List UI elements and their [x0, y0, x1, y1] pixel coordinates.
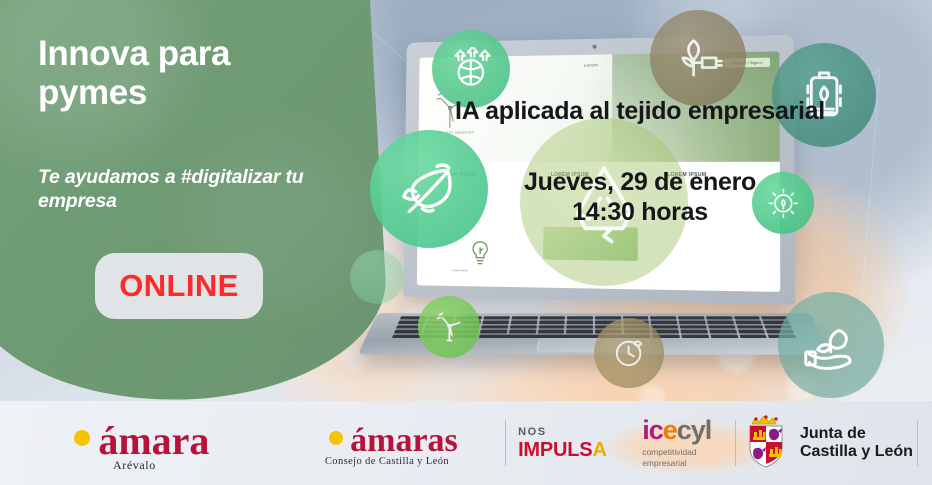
icecyl-wordmark: icecyl: [642, 417, 711, 444]
icecyl-sublabel: competitividad empresarial: [642, 447, 711, 468]
junta-castilla-leon-logo[interactable]: Junta de Castilla y León: [736, 401, 917, 485]
camara-wordmark: ámara: [98, 421, 209, 461]
event-info: IA aplicada al tejido empresarial Jueves…: [430, 96, 850, 228]
plant-plug-icon: [650, 10, 746, 106]
impulsa-line2: IMPULSA: [518, 440, 607, 460]
camara-arevalo-logo[interactable]: ámara Arévalo: [0, 401, 269, 485]
mock-caption: Lorem ipsum: [452, 268, 469, 272]
event-time: 14:30 horas: [430, 197, 850, 228]
icecyl-logo[interactable]: icecyl competitividad empresarial: [619, 401, 735, 485]
icecyl-sub-line1: competitividad: [642, 447, 711, 458]
impulsa-main-text: IMPULS: [518, 439, 592, 461]
camaras-sublabel: Consejo de Castilla y León: [325, 457, 449, 468]
online-badge-label: ONLINE: [119, 268, 239, 304]
camara-c-mark-icon: [59, 415, 105, 461]
icecyl-part2: e: [663, 415, 677, 445]
wind-turbine-icon: [418, 296, 480, 358]
event-date: Jueves, 29 de enero: [430, 167, 850, 198]
page-title: Innova para pymes: [38, 34, 338, 112]
icecyl-sub-line2: empresarial: [642, 458, 711, 469]
junta-line1: Junta de: [800, 425, 913, 443]
clock-leaf-icon: [594, 318, 664, 388]
camaras-wordmark: ámaras: [350, 424, 458, 458]
left-copy: Innova para pymes Te ayudamos a #digital…: [38, 34, 338, 214]
online-badge[interactable]: ONLINE: [95, 253, 263, 319]
camara-sublabel: Arévalo: [113, 459, 156, 471]
mock-nav-logo: Lorem: [584, 62, 599, 67]
impulsa-line1: NOS: [518, 427, 607, 438]
icecyl-part3: cyl: [677, 415, 712, 445]
mock-bulb-icon: [465, 236, 494, 270]
footer-logo-bar: ámara Arévalo ámaras Consejo de Castilla…: [0, 401, 932, 485]
junta-wordmark: Junta de Castilla y León: [800, 425, 913, 461]
page-subtitle: Te ayudamos a #digitalizar tu empresa: [38, 166, 338, 214]
camaras-castilla-leon-logo[interactable]: ámaras Consejo de Castilla y León: [269, 401, 505, 485]
promo-banner: Lorem Register / Sign-in ECOLOGY INDUSTR…: [0, 0, 932, 485]
footer-divider-3: [917, 401, 932, 485]
junta-line2: Castilla y León: [800, 443, 913, 461]
hand-sprout-icon: [778, 292, 884, 398]
icecyl-part1: ic: [642, 415, 663, 445]
small-eco-bubble: [350, 250, 404, 304]
castilla-leon-crest-icon: [740, 413, 792, 474]
event-title: IA aplicada al tejido empresarial: [430, 96, 850, 127]
nos-impulsa-logo[interactable]: NOS IMPULSA: [506, 401, 618, 485]
impulsa-accent-letter: A: [592, 439, 606, 461]
webcam-dot: [593, 45, 597, 49]
camaras-c-mark-icon: [316, 418, 356, 458]
